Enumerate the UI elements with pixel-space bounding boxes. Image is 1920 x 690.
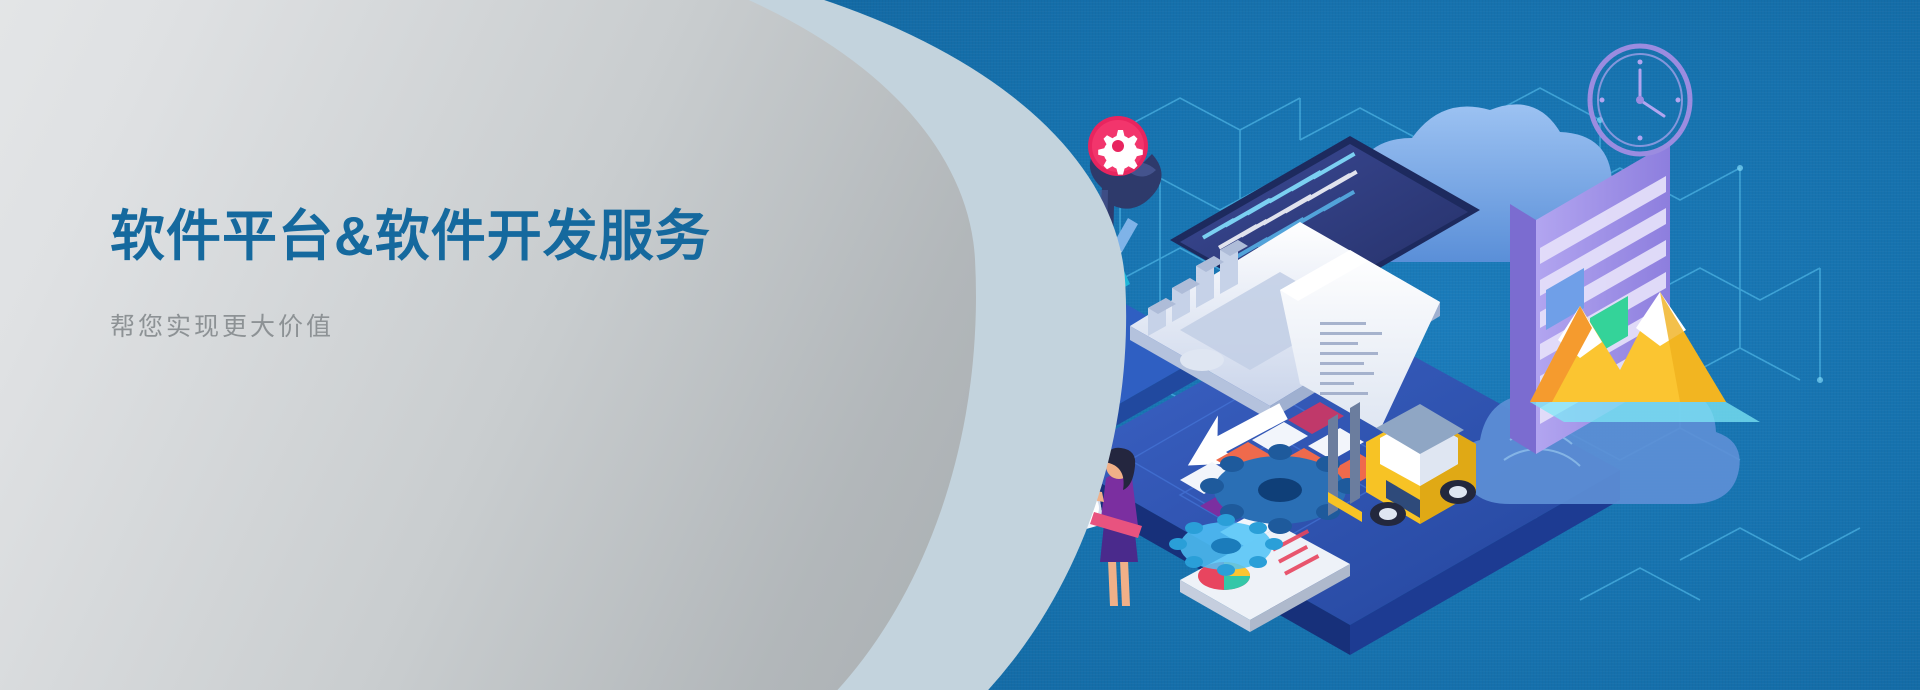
page-title: 软件平台&软件开发服务 <box>110 204 810 269</box>
clock-icon <box>1590 46 1690 154</box>
hero-text-block: 软件平台&软件开发服务 帮您实现更大价值 <box>110 204 810 343</box>
gear-badge-icon <box>1088 116 1148 176</box>
hero-banner: 软件平台&软件开发服务 帮您实现更大价值 <box>0 0 1920 690</box>
background-gray-panel <box>0 0 1003 690</box>
page-subtitle: 帮您实现更大价值 <box>110 307 810 343</box>
